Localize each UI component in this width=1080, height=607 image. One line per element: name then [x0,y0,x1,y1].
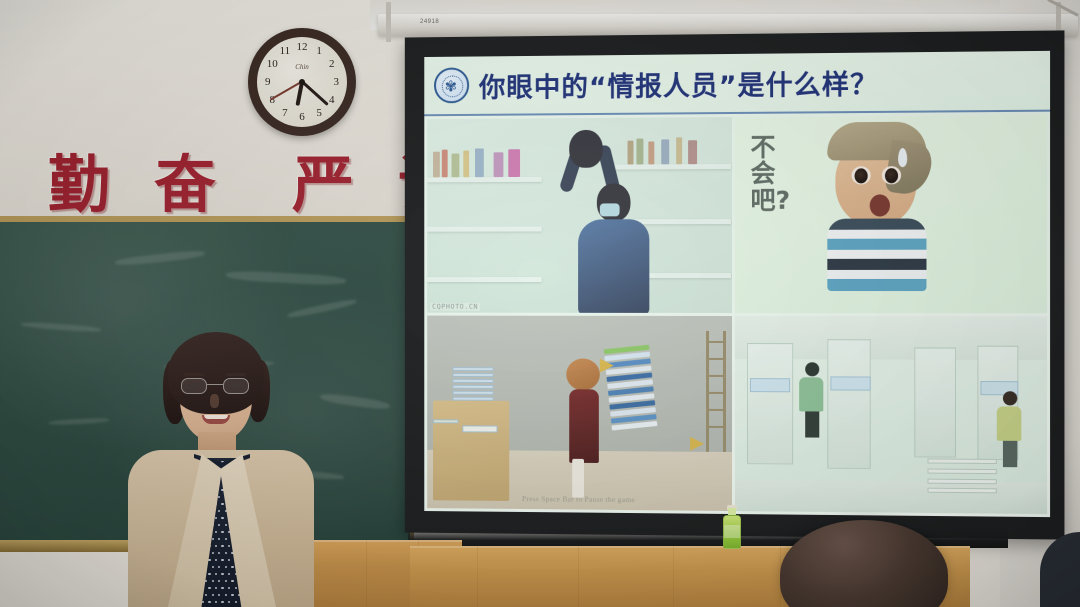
staff-figure [996,391,1023,467]
librarian-head-upper [569,130,603,168]
clock-num-1: 1 [312,45,326,57]
clock-num-5: 5 [312,107,326,119]
librarian-body [578,219,649,313]
clock-num-2: 2 [325,58,339,70]
meme-kid-figure [821,122,934,291]
slide-panel-grid: CQPHOTO.CN 不会吧? [424,112,1050,517]
emblem-glyph: ✾ [445,77,457,95]
clock-num-3: 3 [329,76,343,88]
classroom-scene: 勤 奋 严 谨 Chin 12 1 2 3 4 5 6 7 8 9 10 11 [0,0,1080,607]
clock-num-9: 9 [261,76,275,88]
clock-num-7: 7 [278,107,292,119]
wall-slogan: 勤 奋 严 谨 [0,146,420,224]
panel-cartoon-game: Press Space Bar to Pause the game [427,315,731,511]
eyeglasses-right-lens [223,378,249,394]
panel-bookstore-aisle [734,316,1047,515]
screen-surface: ✾ 你眼中的“情报人员”是什么样？ [424,51,1050,517]
clock-num-11: 11 [278,45,292,57]
green-tea-bottle [723,505,741,549]
slide-header: ✾ 你眼中的“情报人员”是什么样？ [424,51,1050,116]
institution-emblem-icon: ✾ [434,67,469,103]
slogan-char-2: 奋 [154,154,216,216]
slide-title: 你眼中的“情报人员”是什么样？ [479,62,878,104]
photo-watermark: CQPHOTO.CN [430,302,480,310]
wall-clock: Chin 12 1 2 3 4 5 6 7 8 9 10 11 [248,28,356,136]
clock-center-pin [299,79,305,85]
clock-num-12: 12 [295,41,309,53]
panel-library-shelves: CQPHOTO.CN [427,117,731,313]
eyeglasses-left-lens [181,378,207,394]
clock-face: Chin 12 1 2 3 4 5 6 7 8 9 10 11 [257,37,347,127]
panel-meme-kid: 不会吧? [734,115,1047,313]
presentation-slide: ✾ 你眼中的“情报人员”是什么样？ [424,51,1050,517]
projection-screen: ✾ 你眼中的“情报人员”是什么样？ [405,30,1065,539]
clock-num-6: 6 [295,111,309,123]
meme-caption: 不会吧? [751,135,797,214]
screen-bracket-left [386,2,391,42]
shopper-figure [799,363,825,438]
clock-num-10: 10 [265,58,279,70]
slogan-char-1: 勤 [48,154,110,216]
housing-label: 24918 [420,19,439,25]
presenter-figure [120,332,320,607]
game-ladder [706,331,726,452]
slogan-char-3: 严 [292,154,354,216]
